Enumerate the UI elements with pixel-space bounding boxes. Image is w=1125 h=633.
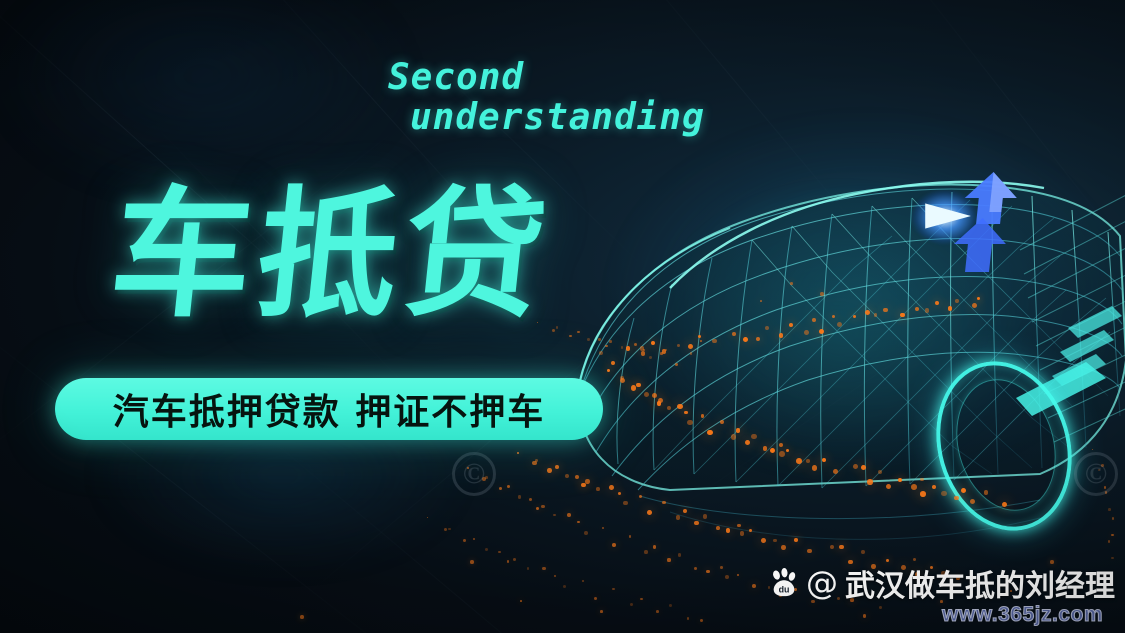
poster-canvas: © © Second understanding 车抵贷 汽车抵押贷款 押证不押… — [0, 0, 1125, 633]
vignette-overlay — [0, 0, 1125, 633]
